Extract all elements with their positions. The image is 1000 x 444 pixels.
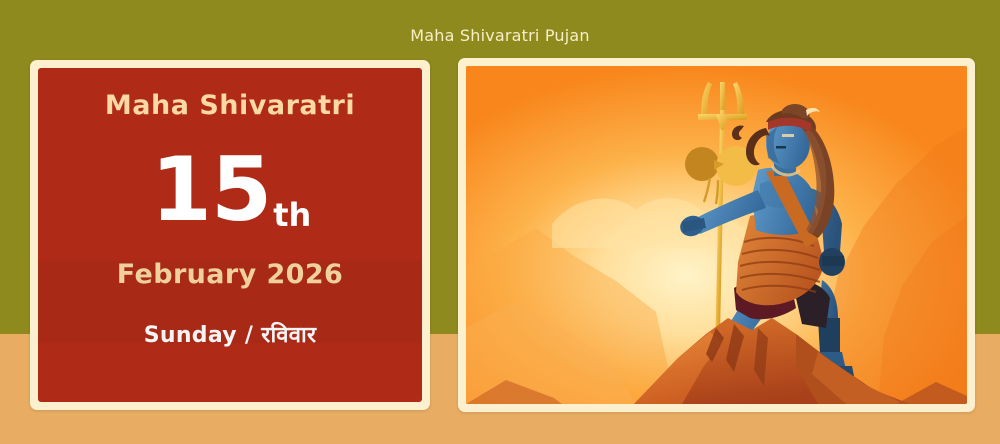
illustration-card xyxy=(458,58,975,412)
illustration-frame xyxy=(466,66,967,404)
page-title: Maha Shivaratri Pujan xyxy=(0,26,1000,45)
date-card-inner: Maha Shivaratri 15th February 2026 Sunda… xyxy=(38,68,422,402)
weekday-label: Sunday / रविवार xyxy=(38,319,422,349)
date-card: Maha Shivaratri 15th February 2026 Sunda… xyxy=(30,60,430,410)
shiva-illustration xyxy=(466,66,967,404)
month-year: February 2026 xyxy=(38,259,422,290)
festival-name: Maha Shivaratri xyxy=(38,90,422,121)
date-ordinal-suffix: th xyxy=(273,196,311,234)
date-display: 15th xyxy=(38,146,422,234)
date-number: 15 xyxy=(151,138,271,241)
